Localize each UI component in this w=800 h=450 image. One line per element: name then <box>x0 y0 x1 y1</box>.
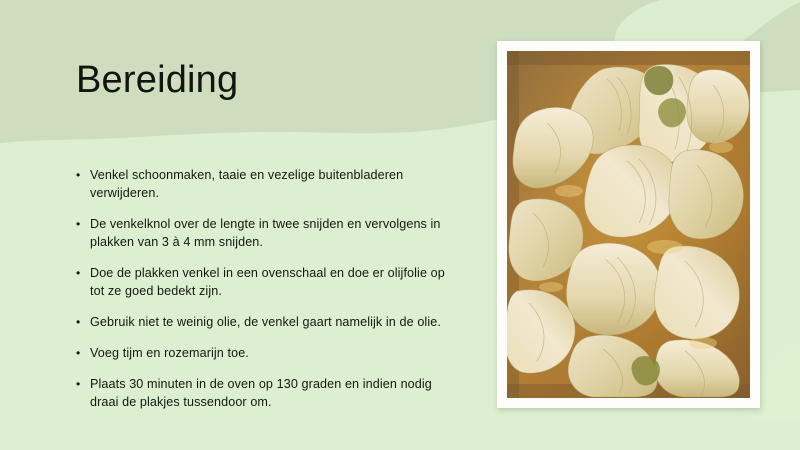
bullet-marker-icon: • <box>74 264 90 282</box>
list-item: • Doe de plakken venkel in een ovenschaa… <box>74 264 446 300</box>
bullet-marker-icon: • <box>74 166 90 184</box>
list-item-text: Doe de plakken venkel in een ovenschaal … <box>90 264 446 300</box>
bullet-marker-icon: • <box>74 344 90 362</box>
photo-frame <box>497 41 760 408</box>
list-item: • De venkelknol over de lengte in twee s… <box>74 215 446 251</box>
sliced-fennel-in-baking-dish-photo <box>507 51 750 398</box>
bullet-marker-icon: • <box>74 375 90 393</box>
list-item: • Voeg tijm en rozemarijn toe. <box>74 344 446 362</box>
slide-canvas: Bereiding • Venkel schoonmaken, taaie en… <box>0 0 800 450</box>
page-title: Bereiding <box>76 57 238 103</box>
list-item-text: De venkelknol over de lengte in twee sni… <box>90 215 446 251</box>
list-item-text: Venkel schoonmaken, taaie en vezelige bu… <box>90 166 446 202</box>
list-item-text: Voeg tijm en rozemarijn toe. <box>90 344 446 362</box>
bullet-marker-icon: • <box>74 313 90 331</box>
list-item-text: Plaats 30 minuten in de oven op 130 grad… <box>90 375 446 411</box>
list-item: • Gebruik niet te weinig olie, de venkel… <box>74 313 446 331</box>
list-item: • Plaats 30 minuten in de oven op 130 gr… <box>74 375 446 411</box>
list-item: • Venkel schoonmaken, taaie en vezelige … <box>74 166 446 202</box>
bullet-marker-icon: • <box>74 215 90 233</box>
list-item-text: Gebruik niet te weinig olie, de venkel g… <box>90 313 446 331</box>
bullet-list: • Venkel schoonmaken, taaie en vezelige … <box>74 166 446 411</box>
